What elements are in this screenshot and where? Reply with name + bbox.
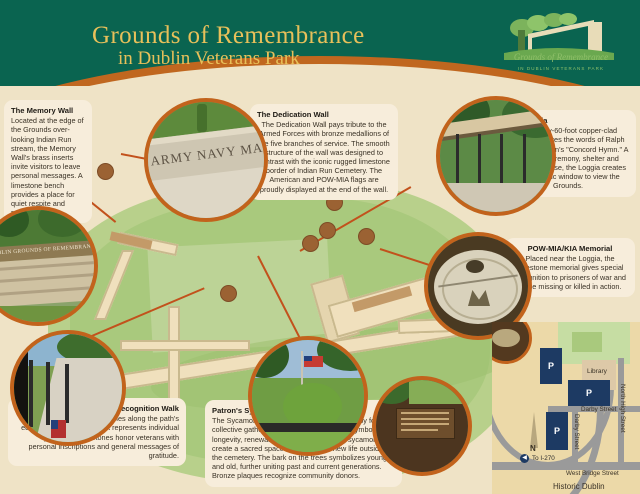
photo-loggia-image <box>440 100 552 212</box>
north-label: N <box>530 444 536 453</box>
photo-sycamore-grove[interactable] <box>248 336 368 456</box>
interstate-shield-icon: ◀ <box>520 454 529 463</box>
inset-parking-north-label: P <box>540 361 562 371</box>
inset-west-bridge-street-label: West Bridge Street <box>566 470 619 477</box>
inset-parking-south-label: P <box>546 426 568 436</box>
inset-north-high-street-label: North High Street <box>619 384 626 433</box>
map-node-memory[interactable] <box>97 163 114 180</box>
photo-dedication-wall[interactable]: ARMY NAVY MARINES <box>144 98 268 222</box>
photo-recognition-walk[interactable] <box>10 330 126 446</box>
inset-parking-north: P <box>540 348 562 384</box>
poster-header: Grounds of Remembrance in Dublin Veteran… <box>0 0 640 86</box>
inset-parking-center-label: P <box>568 388 610 398</box>
logo-wordmark: Grounds of Remembrance <box>502 52 620 62</box>
north-arrow-icon <box>530 412 538 448</box>
inset-grounds-area <box>572 332 602 352</box>
inset-west-bridge-street <box>492 462 640 470</box>
photo-bronze-plaque-image <box>376 380 468 472</box>
photo-pow-mia-image <box>428 236 528 336</box>
page-title: Grounds of Remembrance <box>92 22 365 50</box>
photo-sycamore-grove-image <box>252 340 364 452</box>
inset-darby-street-h-label: Darby Street <box>581 406 616 413</box>
inset-library-label: Library <box>587 368 607 375</box>
inset-parking-south: P <box>546 412 568 450</box>
inset-historic-dublin-label: Historic Dublin <box>553 482 605 491</box>
poster-canvas: Grounds of Remembrance in Dublin Veteran… <box>0 0 640 494</box>
photo-recognition-walk-image <box>14 334 122 442</box>
photo-bronze-plaque[interactable] <box>372 376 472 476</box>
callout-pow-mia-title: POW-MIA/KIA Memorial <box>512 244 628 253</box>
callout-memory-wall: The Memory Wall Located at the edge of t… <box>4 100 92 223</box>
photo-dedication-wall-image: ARMY NAVY MARINES <box>148 102 264 218</box>
photo-loggia[interactable] <box>436 96 556 216</box>
callout-dedication-wall: The Dedication Wall The Dedication Wall … <box>250 104 398 200</box>
interstate-direction-label: To I-270 <box>532 455 555 462</box>
map-node-loggia[interactable] <box>319 222 336 239</box>
callout-dedication-wall-body: The Dedication Wall pays tribute to the … <box>257 120 391 194</box>
map-node-pow[interactable] <box>358 228 375 245</box>
inset-parking-center: P <box>568 380 610 406</box>
inset-darby-street-v-label: Darby Street <box>573 414 580 449</box>
path-cross <box>120 340 250 351</box>
map-node-recognition[interactable] <box>220 285 237 302</box>
photo-memory-wall[interactable]: DUBLIN GROUNDS OF REMEMBRANCE <box>0 206 98 326</box>
callout-memory-wall-title: The Memory Wall <box>11 106 73 115</box>
callout-dedication-wall-title: The Dedication Wall <box>257 110 391 119</box>
logo-tagline: IN DUBLIN VETERANS PARK <box>502 66 620 71</box>
photo-memory-wall-image: DUBLIN GROUNDS OF REMEMBRANCE <box>0 210 94 322</box>
inset-locator-map[interactable]: Library P P P Darby Street Darby Street … <box>492 322 640 494</box>
map-node-sycamore[interactable] <box>302 235 319 252</box>
inset-photo-thumbnail[interactable] <box>492 322 532 364</box>
callout-memory-wall-body: Located at the edge of the Grounds over-… <box>11 116 85 217</box>
brand-logo: Grounds of Remembrance IN DUBLIN VETERAN… <box>502 12 620 74</box>
page-subtitle: in Dublin Veterans Park <box>118 48 300 70</box>
